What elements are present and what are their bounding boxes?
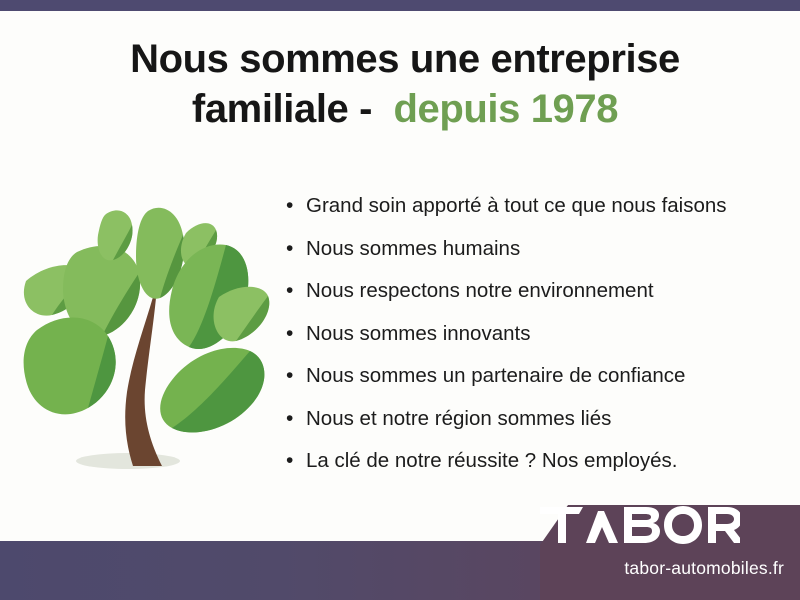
tree-illustration xyxy=(20,178,282,480)
list-item: • Nous et notre région sommes liés xyxy=(286,405,786,448)
list-item-label: Grand soin apporté à tout ce que nous fa… xyxy=(306,192,727,219)
slide-canvas: Nous sommes une entreprise familiale - d… xyxy=(0,0,800,600)
list-item-label: Nous sommes innovants xyxy=(306,320,530,347)
list-item-label: La clé de notre réussite ? Nos employés. xyxy=(306,447,677,474)
bullet-icon: • xyxy=(286,405,306,432)
bullet-icon: • xyxy=(286,447,306,474)
logo-wordmark xyxy=(540,505,740,545)
list-item: • Nous sommes humains xyxy=(286,235,786,278)
tree-ground-shadow xyxy=(76,453,180,469)
bullet-icon: • xyxy=(286,277,306,304)
list-item-label: Nous et notre région sommes liés xyxy=(306,405,611,432)
tree-trunk xyxy=(125,297,162,466)
list-item: • Nous sommes un partenaire de confiance xyxy=(286,362,786,405)
page-title: Nous sommes une entreprise familiale - d… xyxy=(60,34,750,134)
list-item-label: Nous sommes humains xyxy=(306,235,520,262)
list-item: • Grand soin apporté à tout ce que nous … xyxy=(286,192,786,235)
list-item: • Nous respectons notre environnement xyxy=(286,277,786,320)
value-list: • Grand soin apporté à tout ce que nous … xyxy=(286,192,786,490)
title-line-2-black: familiale - xyxy=(192,87,372,131)
logo-url[interactable]: tabor-automobiles.fr xyxy=(540,558,792,579)
title-line-1: Nous sommes une entreprise xyxy=(60,34,750,84)
bullet-icon: • xyxy=(286,320,306,347)
title-line-2-accent: depuis 1978 xyxy=(393,87,618,131)
title-line-2: familiale - depuis 1978 xyxy=(60,84,750,134)
bullet-icon: • xyxy=(286,235,306,262)
brand-logo[interactable]: tabor-automobiles.fr xyxy=(540,505,800,600)
list-item-label: Nous sommes un partenaire de confiance xyxy=(306,362,685,389)
list-item: • La clé de notre réussite ? Nos employé… xyxy=(286,447,786,490)
tree-leaf-right-lower xyxy=(160,348,264,433)
tree-leaf-top-small xyxy=(98,210,133,260)
tree-leaf-left-lower xyxy=(24,317,116,414)
list-item-label: Nous respectons notre environnement xyxy=(306,277,654,304)
top-accent-bar xyxy=(0,0,800,11)
bullet-icon: • xyxy=(286,192,306,219)
bullet-icon: • xyxy=(286,362,306,389)
list-item: • Nous sommes innovants xyxy=(286,320,786,363)
